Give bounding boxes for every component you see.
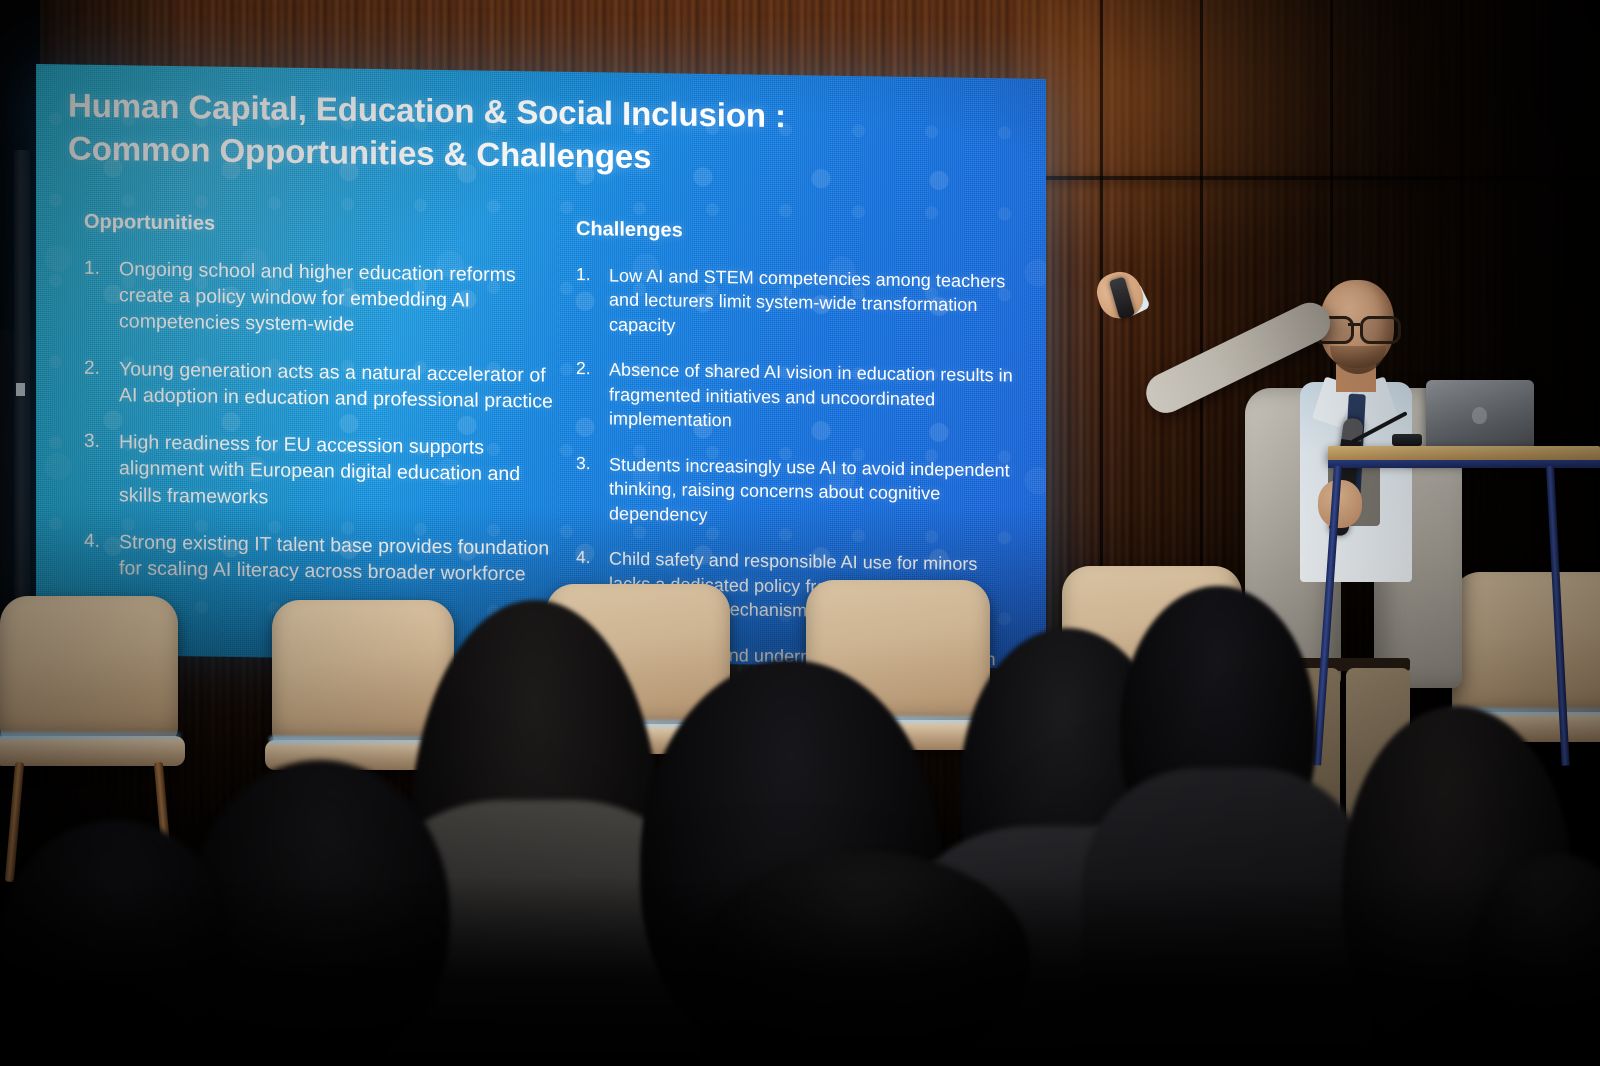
list-item-text: Ongoing school and higher education refo…	[119, 256, 554, 341]
list-item-text: Absence of shared AI vision in education…	[609, 358, 1016, 437]
truss-label-tag	[16, 383, 25, 396]
list-item-number: 3.	[84, 429, 108, 508]
list-item-number: 1.	[84, 256, 108, 335]
challenges-heading: Challenges	[576, 218, 1016, 248]
list-item-number: 2.	[84, 355, 108, 408]
slide-title: Human Capital, Education & Social Inclus…	[68, 84, 948, 182]
list-item: 2. Absence of shared AI vision in educat…	[576, 357, 1016, 437]
mic-stand-base	[1392, 434, 1422, 446]
list-item-text: High readiness for EU accession supports…	[119, 429, 554, 514]
list-item-number: 2.	[576, 357, 598, 431]
list-item: 2. Young generation acts as a natural ac…	[84, 355, 554, 414]
list-item: 1. Low AI and STEM competencies among te…	[576, 263, 1016, 343]
laptop	[1426, 380, 1534, 450]
list-item: 1. Ongoing school and higher education r…	[84, 256, 554, 342]
table-leg	[1546, 466, 1570, 766]
foreground-floor-shadow	[0, 876, 1600, 1066]
glasses-lens-right	[1360, 316, 1401, 344]
chair-back	[0, 596, 178, 744]
opportunities-heading: Opportunities	[84, 211, 554, 241]
list-item: 3. High readiness for EU accession suppo…	[84, 429, 554, 515]
microphone-stand	[1352, 400, 1412, 450]
list-item-text: Low AI and STEM competencies among teach…	[609, 264, 1016, 343]
list-item-number: 1.	[576, 263, 598, 337]
glasses-bridge	[1348, 323, 1360, 326]
apple-logo-icon	[1472, 407, 1487, 424]
conference-photo-scene: Human Capital, Education & Social Inclus…	[0, 0, 1600, 1066]
table-frame-rail	[1328, 460, 1600, 468]
list-item-text: Young generation acts as a natural accel…	[119, 356, 554, 415]
